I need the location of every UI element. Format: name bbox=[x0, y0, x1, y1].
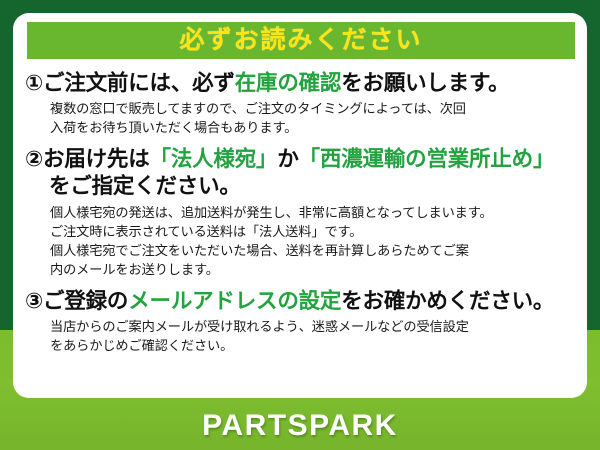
notice-item-3-heading-pre: ご登録の bbox=[43, 289, 128, 313]
notice-item-1-subtext: 複数の窓口で販売してますので、ご注文のタイミングによっては、次回 入荷をお待ち頂… bbox=[25, 99, 577, 137]
notice-item-2-subline-2: ご注文時に表示されている送料は「法人送料」です。 bbox=[50, 222, 577, 241]
notice-item-2-subline-1: 個人様宅宛の発送は、追加送料が発生し、非常に高額となってしまいます。 bbox=[50, 203, 577, 222]
notice-item-2-heading-highlight: 「法人様宛」 bbox=[150, 147, 278, 171]
notice-item-3-subtext: 当店からのご案内メールが受け取れるよう、迷惑メールなどの受信設定 をあらかじめご… bbox=[25, 317, 577, 355]
notice-item-3-subline-1: 当店からのご案内メールが受け取れるよう、迷惑メールなどの受信設定 bbox=[50, 317, 577, 336]
notice-item-2-heading-highlight-2: 「西濃運輸の営業所止め」 bbox=[299, 147, 555, 171]
notice-item-1-heading: ①ご注文前には、必ず在庫の確認をお願いします。 bbox=[25, 70, 577, 97]
notice-item-3-heading: ③ご登録のメールアドレスの設定をお確かめください。 bbox=[25, 288, 577, 315]
brand-footer: PARTSPARK bbox=[0, 401, 600, 450]
notice-banner: 必ずお読みください ①ご注文前には、必ず在庫の確認をお願いします。 複数の窓口で… bbox=[0, 0, 600, 450]
notice-item-2-number: ② bbox=[25, 147, 43, 171]
notice-item-1-heading-post: をお願いします。 bbox=[341, 71, 509, 95]
notice-content: ①ご注文前には、必ず在庫の確認をお願いします。 複数の窓口で販売してますので、ご… bbox=[13, 68, 587, 360]
brand-name: PARTSPARK bbox=[202, 409, 398, 443]
notice-item-1-heading-highlight: 在庫の確認 bbox=[235, 71, 342, 95]
notice-item-2-heading-pre: お届け先は bbox=[43, 147, 150, 171]
notice-item-2-subline-4: 内のメールをお送りします。 bbox=[50, 260, 577, 279]
notice-item-1-subline-2: 入荷をお待ち頂いただく場合もあります。 bbox=[50, 118, 577, 137]
notice-item-3-subline-2: をあらかじめご確認ください。 bbox=[50, 336, 577, 355]
notice-item-1-number: ① bbox=[25, 71, 43, 95]
notice-item-2-heading: ②お届け先は「法人様宛」か「西濃運輸の営業所止め」をご指定ください。 bbox=[25, 146, 577, 200]
banner-title: 必ずお読みください bbox=[179, 28, 422, 53]
notice-card: 必ずお読みください ①ご注文前には、必ず在庫の確認をお願いします。 複数の窓口で… bbox=[13, 13, 587, 398]
notice-item-1-heading-pre: ご注文前には、必ず bbox=[43, 71, 235, 95]
title-bar: 必ずお読みください bbox=[27, 22, 575, 59]
notice-item-3: ③ご登録のメールアドレスの設定をお確かめください。 当店からのご案内メールが受け… bbox=[25, 288, 577, 355]
notice-item-3-number: ③ bbox=[25, 289, 43, 313]
notice-item-1-subline-1: 複数の窓口で販売してますので、ご注文のタイミングによっては、次回 bbox=[50, 99, 577, 118]
notice-item-2-subtext: 個人様宅宛の発送は、追加送料が発生し、非常に高額となってしまいます。 ご注文時に… bbox=[25, 203, 577, 280]
notice-item-2-heading-mid: か bbox=[277, 147, 298, 171]
notice-item-2: ②お届け先は「法人様宛」か「西濃運輸の営業所止め」をご指定ください。 個人様宅宛… bbox=[25, 146, 577, 279]
notice-item-2-subline-3: 個人様宅宛でご注文をいただいた場合、送料を再計算しあらためてご案 bbox=[50, 241, 577, 260]
notice-item-3-heading-post: をお確かめください。 bbox=[341, 289, 554, 313]
notice-item-1: ①ご注文前には、必ず在庫の確認をお願いします。 複数の窓口で販売してますので、ご… bbox=[25, 70, 577, 137]
notice-item-2-heading-line2: をご指定ください。 bbox=[25, 173, 577, 200]
notice-item-3-heading-highlight: メールアドレスの設定 bbox=[128, 289, 341, 313]
